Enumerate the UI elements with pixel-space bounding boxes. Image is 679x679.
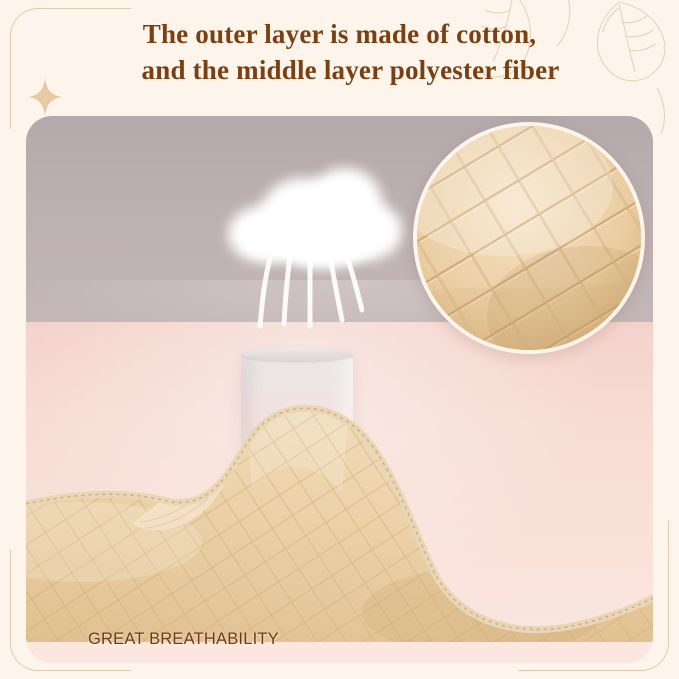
fabric-closeup-circle [413, 122, 645, 354]
headline-line-1: The outer layer is made of cotton, [0, 16, 679, 52]
feature-list: GREAT BREATHABILITY SOFT AND COMFORTABLE… [88, 623, 608, 663]
list-item: SOFT AND COMFORTABLE [88, 656, 608, 663]
headline-line-2: and the middle layer polyester fiber [0, 52, 679, 88]
list-item: GREAT BREATHABILITY [88, 623, 608, 656]
water-glass [241, 352, 353, 484]
product-feature-poster: The outer layer is made of cotton, and t… [0, 0, 679, 679]
headline: The outer layer is made of cotton, and t… [0, 16, 679, 88]
water-glass-rim [241, 347, 353, 361]
product-photo: GREAT BREATHABILITY SOFT AND COMFORTABLE… [26, 116, 653, 663]
